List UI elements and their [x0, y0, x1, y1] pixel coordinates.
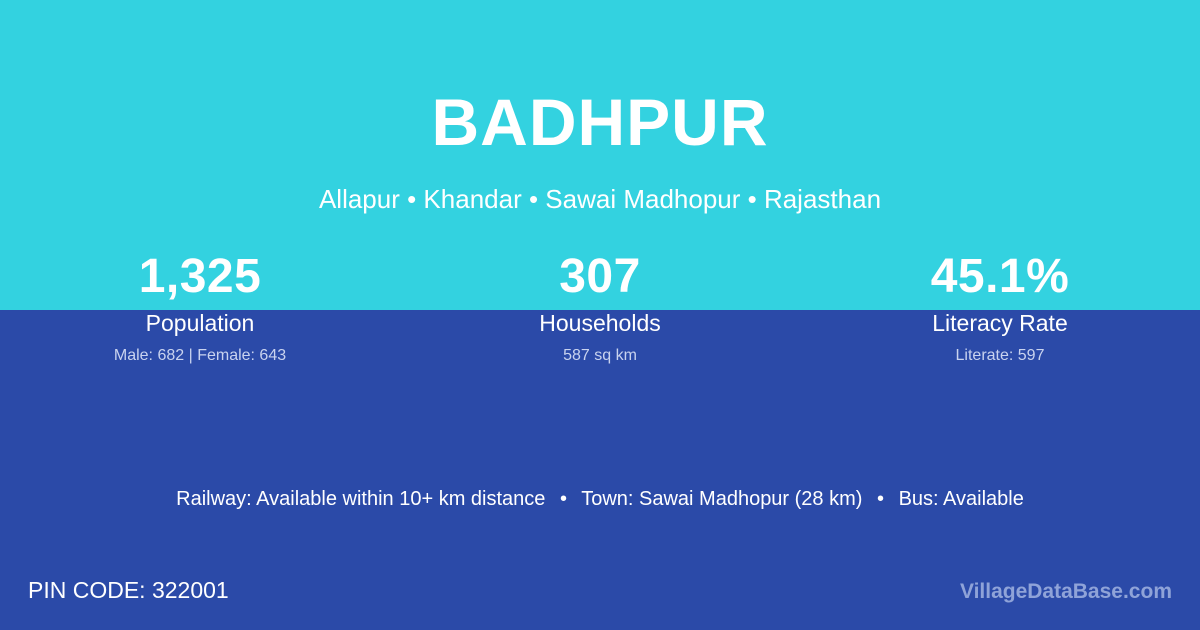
- facility-separator: •: [868, 488, 893, 510]
- stat-label: Households: [400, 308, 800, 338]
- stat-literacy-rate: 45.1% Literacy Rate Literate: 597: [800, 248, 1200, 367]
- facility-town: Town: Sawai Madhopur (28 km): [581, 488, 862, 510]
- stat-sublabel: Literate: 597: [800, 345, 1200, 367]
- stat-population: 1,325 Population Male: 682 | Female: 643: [0, 248, 400, 367]
- stat-value: 307: [400, 248, 800, 306]
- stat-sublabel: 587 sq km: [400, 345, 800, 367]
- facility-separator: •: [551, 488, 576, 510]
- page-title: BADHPUR: [0, 82, 1200, 162]
- stat-label: Population: [0, 308, 400, 338]
- stat-label: Literacy Rate: [800, 308, 1200, 338]
- facility-bus: Bus: Available: [899, 488, 1024, 510]
- breadcrumb: Allapur • Khandar • Sawai Madhopur • Raj…: [0, 183, 1200, 215]
- pin-code: PIN CODE: 322001: [28, 575, 229, 605]
- stat-households: 307 Households 587 sq km: [400, 248, 800, 367]
- stat-value: 45.1%: [800, 248, 1200, 306]
- site-brand: VillageDataBase.com: [960, 577, 1172, 607]
- facilities-row: Railway: Available within 10+ km distanc…: [0, 484, 1200, 514]
- village-info-card: BADHPUR Allapur • Khandar • Sawai Madhop…: [0, 0, 1200, 630]
- stats-row: 1,325 Population Male: 682 | Female: 643…: [0, 248, 1200, 367]
- facility-railway: Railway: Available within 10+ km distanc…: [176, 488, 545, 510]
- stat-sublabel: Male: 682 | Female: 643: [0, 345, 400, 367]
- stat-value: 1,325: [0, 248, 400, 306]
